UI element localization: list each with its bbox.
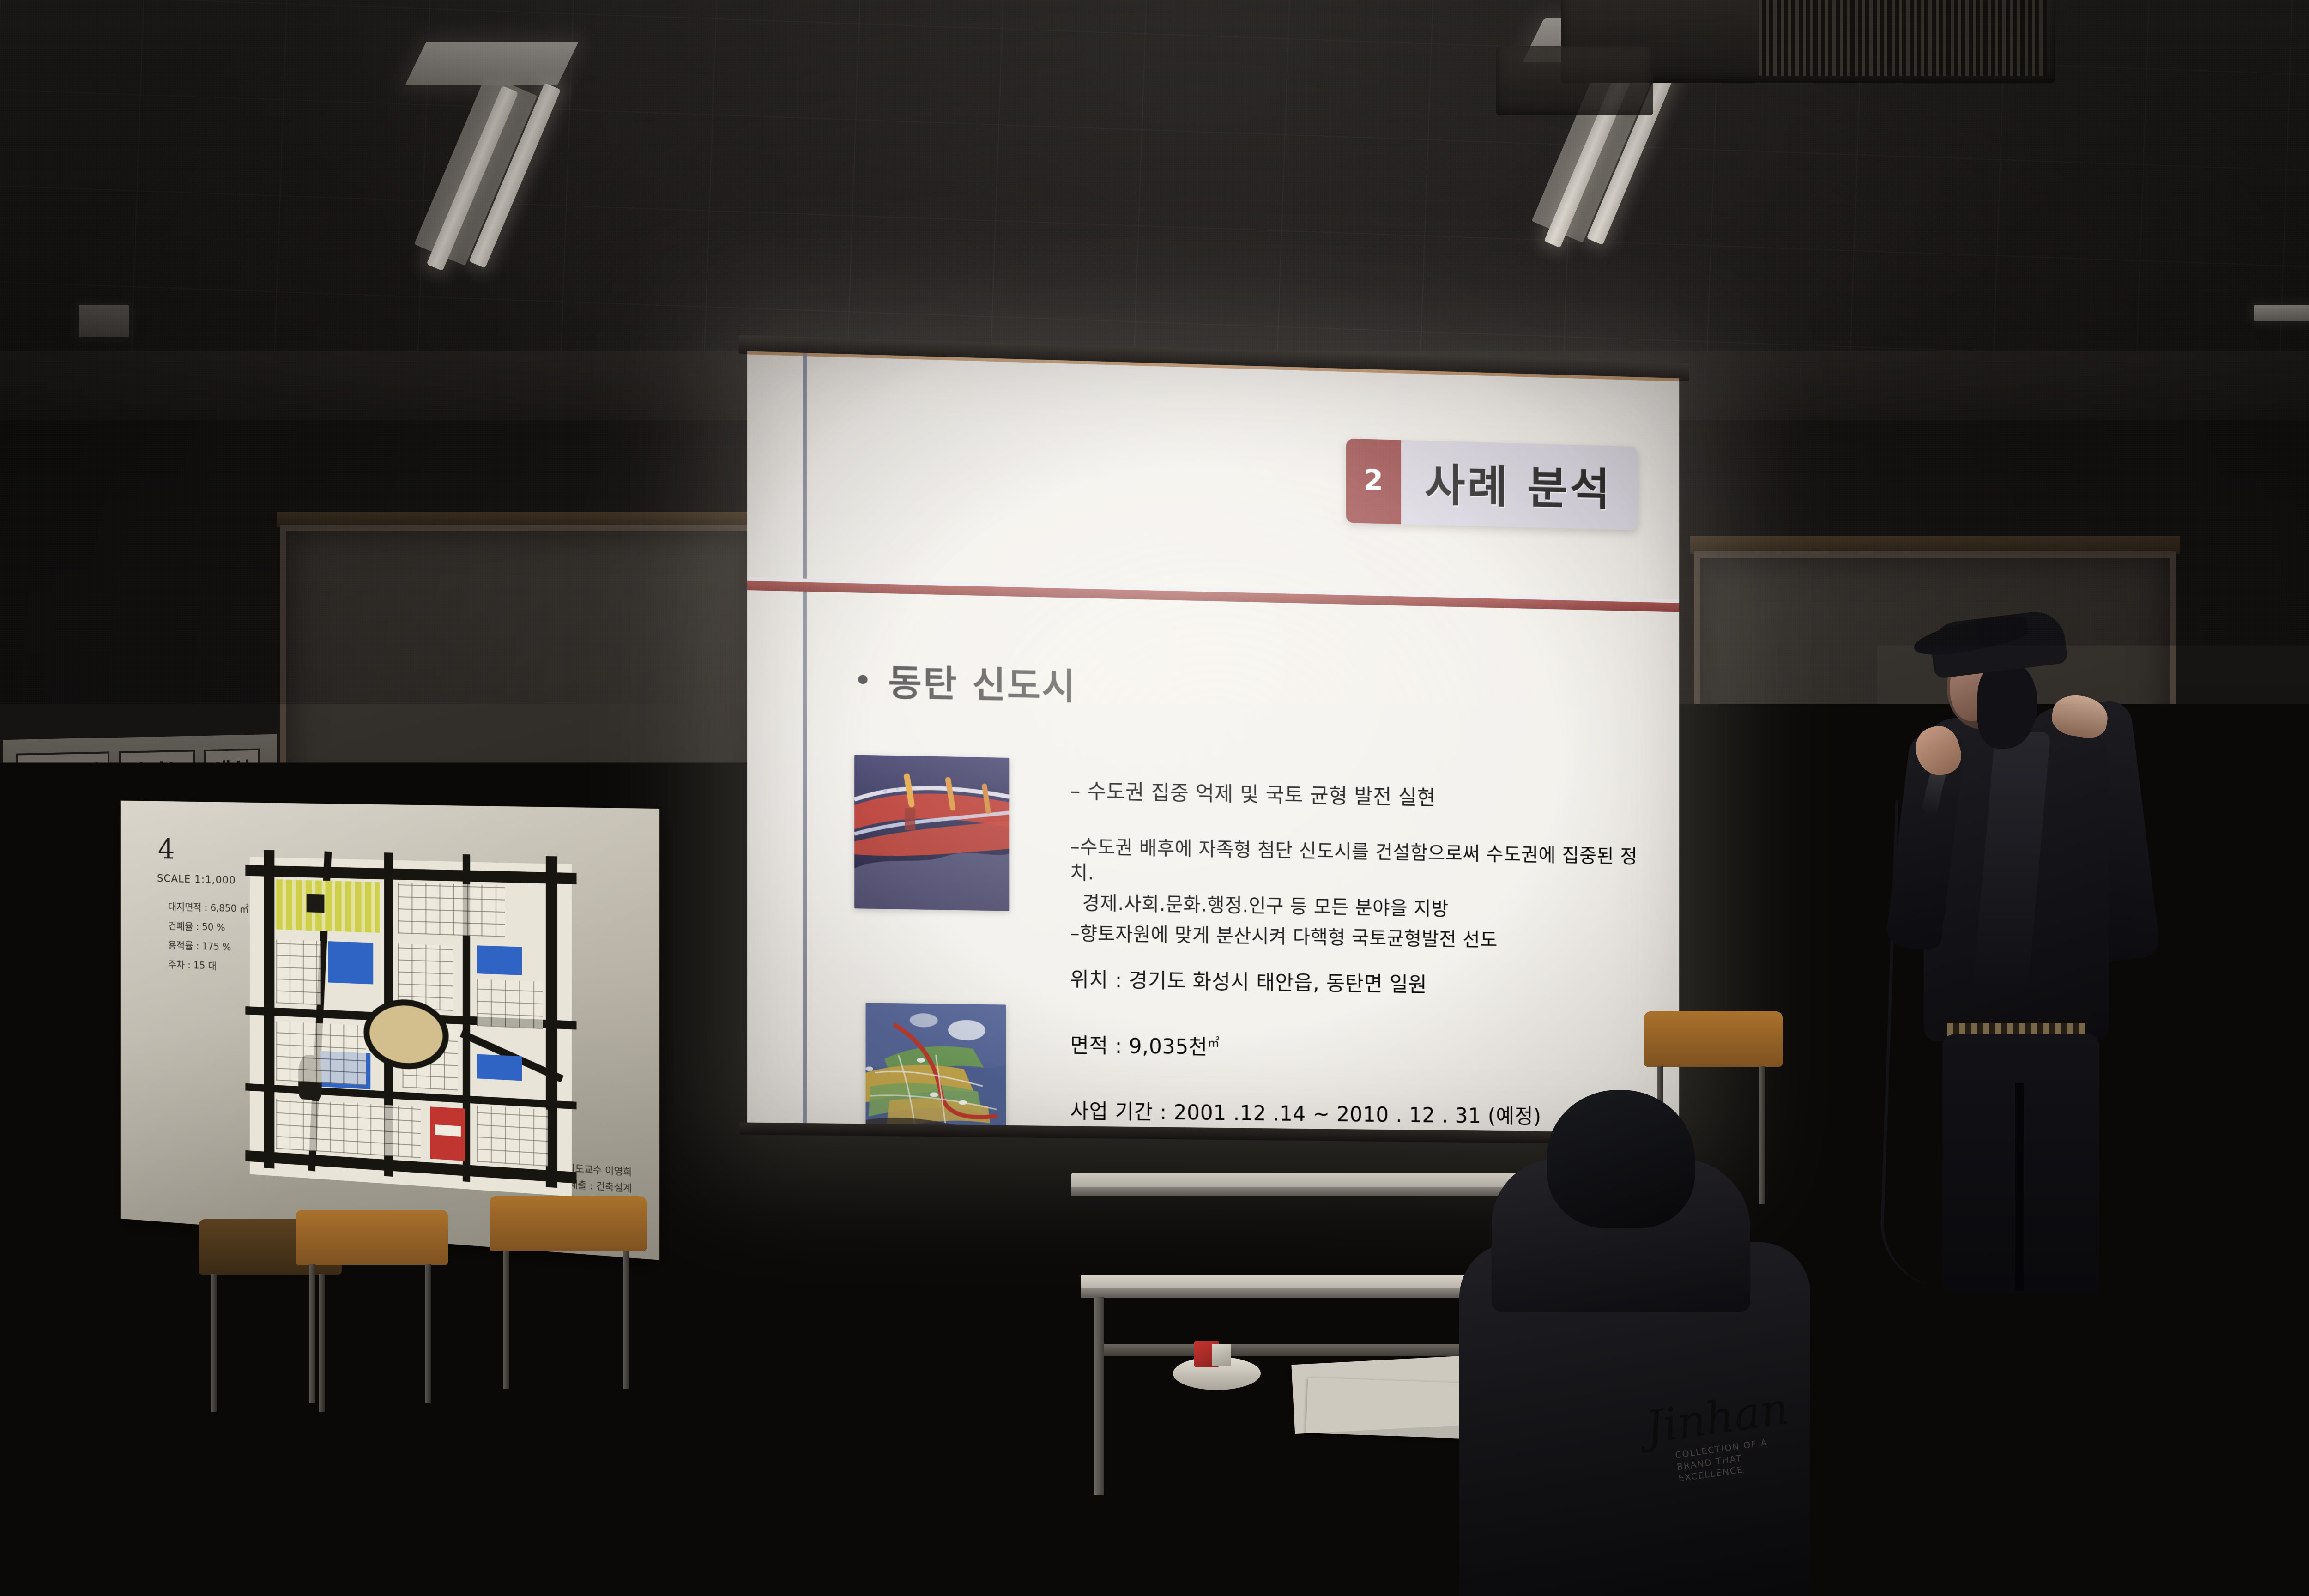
parcel-blue: [477, 1054, 522, 1081]
spec-area-unit: ㎡: [1208, 1036, 1220, 1050]
classroom-scene: 2 사례 분석 동탄 신도시: [0, 0, 2309, 1596]
slide-image-bridge-night: [854, 755, 1009, 911]
floor: [0, 1201, 2309, 1596]
wall-fixture-left: [79, 305, 129, 337]
hvac-louver-grille: [1759, 0, 2047, 76]
powerpoint-slide: 2 사례 분석 동탄 신도시: [747, 351, 1679, 1137]
projection-screen: 2 사례 분석 동탄 신도시: [747, 351, 1679, 1137]
parcel-blue: [477, 945, 522, 975]
bridge-illustration: [854, 755, 1009, 911]
poster-panel: [36, 833, 128, 906]
sign-word-1-box: 길따라: [16, 751, 109, 795]
parcel-block-grid: [477, 979, 543, 1029]
slide-section-number: 2: [1346, 439, 1401, 524]
parcel-block-grid: [398, 883, 505, 937]
sign-word-3: 세상: [212, 753, 253, 785]
lectern-switch[interactable]: [2229, 889, 2255, 913]
parcel-yellow: [276, 879, 380, 933]
dash-line-1: – 수도권 집중 억제 및 국토 균형 발전 실현: [1070, 778, 1652, 816]
parcel-blue: [328, 941, 373, 984]
poster-note: 용적률 : 175 %: [168, 936, 248, 958]
parcel-marker: [307, 894, 325, 913]
parcel-red-inner: [435, 1124, 460, 1137]
bullet-heading-text: 동탄 신도시: [888, 654, 1076, 710]
slide-dash-bullets: – 수도권 집중 억제 및 국토 균형 발전 실현 –수도권 배후에 자족형 첨…: [1070, 778, 1652, 960]
spec-area-value: 면적 : 9,035천: [1070, 1034, 1208, 1059]
wall-light-strip-right: [2254, 305, 2309, 321]
sign-square-icon: [23, 766, 37, 780]
slide-bullet-heading: 동탄 신도시: [858, 653, 1076, 710]
poster-note: 대지면적 : 6,850 ㎡: [168, 897, 248, 919]
slide-title-badge: 2 사례 분석: [1346, 439, 1638, 531]
spec-location: 위치 : 경기도 화성시 태안읍, 동탄면 일원: [1070, 963, 1652, 1001]
poster-panel: [36, 1053, 128, 1088]
parcel-block-grid: [477, 1106, 548, 1167]
slide-image-aerial-masterplan: [866, 1003, 1006, 1137]
av-lectern-cabinet[interactable]: [2178, 834, 2309, 1231]
parcel-block-grid: [276, 1099, 421, 1158]
slide-vertical-rule: [803, 353, 807, 1127]
aerial-plan-illustration: [866, 1003, 1006, 1137]
poster-tree-graphic: [64, 915, 96, 999]
poster-note: 주차 : 15 대: [168, 955, 248, 978]
presenter: [1868, 617, 2173, 1291]
parcel-block-grid: [276, 939, 320, 1005]
spec-area: 면적 : 9,035천㎡: [1070, 1029, 1652, 1066]
sign-word-1: 길따라: [41, 756, 102, 788]
dash-line-3: 경제.사회.문화.행정.인구 등 모든 분야을 지방: [1070, 890, 1652, 925]
sign-word-2: 만나는: [126, 755, 187, 786]
sign-word-2-box: 만나는: [119, 750, 195, 793]
poster-note: 건폐율 : 50 %: [168, 916, 248, 938]
poster-plan-number: 4: [158, 833, 175, 866]
projected-slide-surface: 2 사례 분석 동탄 신도시: [747, 351, 1679, 1137]
hvac-side-duct: [1496, 46, 1653, 115]
hand-drawn-block-plan: [250, 857, 572, 1197]
sign-word-3-box: 세상: [204, 749, 260, 792]
poster-panel: [36, 1094, 128, 1125]
dash-line-4: –향토자원에 맞게 분산시켜 다핵형 국토균형발전 선도: [1070, 921, 1652, 955]
poster-plan-notes: 대지면적 : 6,850 ㎡ 건폐율 : 50 % 용적률 : 175 % 주차…: [168, 897, 248, 978]
dash-line-2: –수도권 배후에 자족형 첨단 신도시를 건설함으로써 수도권에 집중된 정치.: [1070, 834, 1652, 895]
bullet-dot-icon: [858, 675, 867, 684]
slide-section-title: 사례 분석: [1401, 440, 1638, 530]
poster-plan-scale: SCALE 1:1,000: [157, 873, 236, 887]
chair-back: [1644, 1011, 1783, 1067]
parcel-block-grid: [276, 1022, 366, 1086]
wall-sign-slogan: 길따라 만나는 세상: [3, 734, 277, 809]
